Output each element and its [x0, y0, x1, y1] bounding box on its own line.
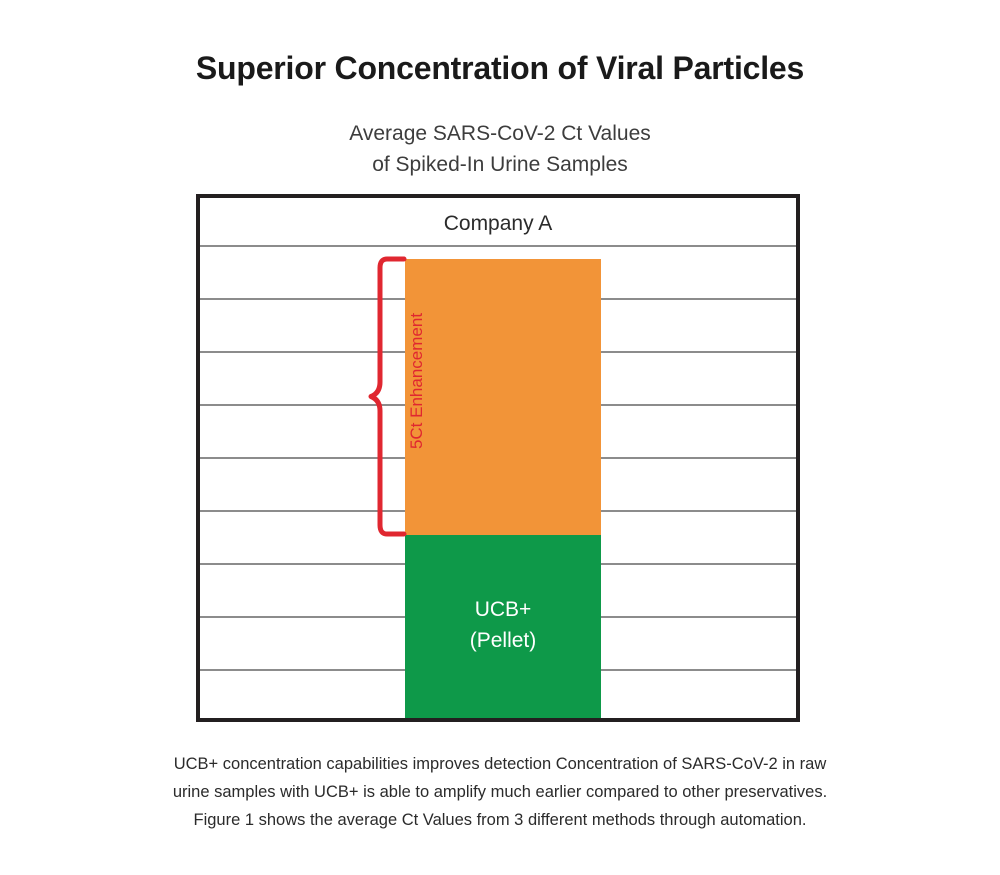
bar-segment-company-a	[405, 259, 601, 535]
chart-plot-inner: Company A UCB+ (Pellet) 5Ct Enhancement	[200, 198, 796, 718]
figure-caption-line-2: urine samples with UCB+ is able to ampli…	[90, 778, 910, 806]
bar-label-ucb-pellet: UCB+ (Pellet)	[405, 594, 601, 656]
page-title: Superior Concentration of Viral Particle…	[0, 50, 1000, 87]
annotation-label-wrap: 5Ct Enhancement	[335, 256, 369, 537]
bar-category-label-company-a: Company A	[200, 212, 796, 236]
gridline-1	[200, 245, 796, 247]
chart-subtitle: Average SARS-CoV-2 Ct Values of Spiked-I…	[0, 118, 1000, 180]
figure-caption-line-1: UCB+ concentration capabilities improves…	[90, 750, 910, 778]
figure-container: Superior Concentration of Viral Particle…	[0, 0, 1000, 875]
annotation-brace-icon	[366, 256, 406, 537]
figure-caption: UCB+ concentration capabilities improves…	[90, 750, 910, 834]
chart-subtitle-line-2: of Spiked-In Urine Samples	[0, 149, 1000, 180]
chart-subtitle-line-1: Average SARS-CoV-2 Ct Values	[0, 118, 1000, 149]
chart-plot-area: Company A UCB+ (Pellet) 5Ct Enhancement	[196, 194, 800, 722]
annotation-label-5ct-enhancement: 5Ct Enhancement	[407, 296, 427, 466]
bar-label-ucb-line-1: UCB+	[405, 594, 601, 625]
bar-label-ucb-line-2: (Pellet)	[405, 625, 601, 656]
figure-caption-line-3: Figure 1 shows the average Ct Values fro…	[90, 806, 910, 834]
